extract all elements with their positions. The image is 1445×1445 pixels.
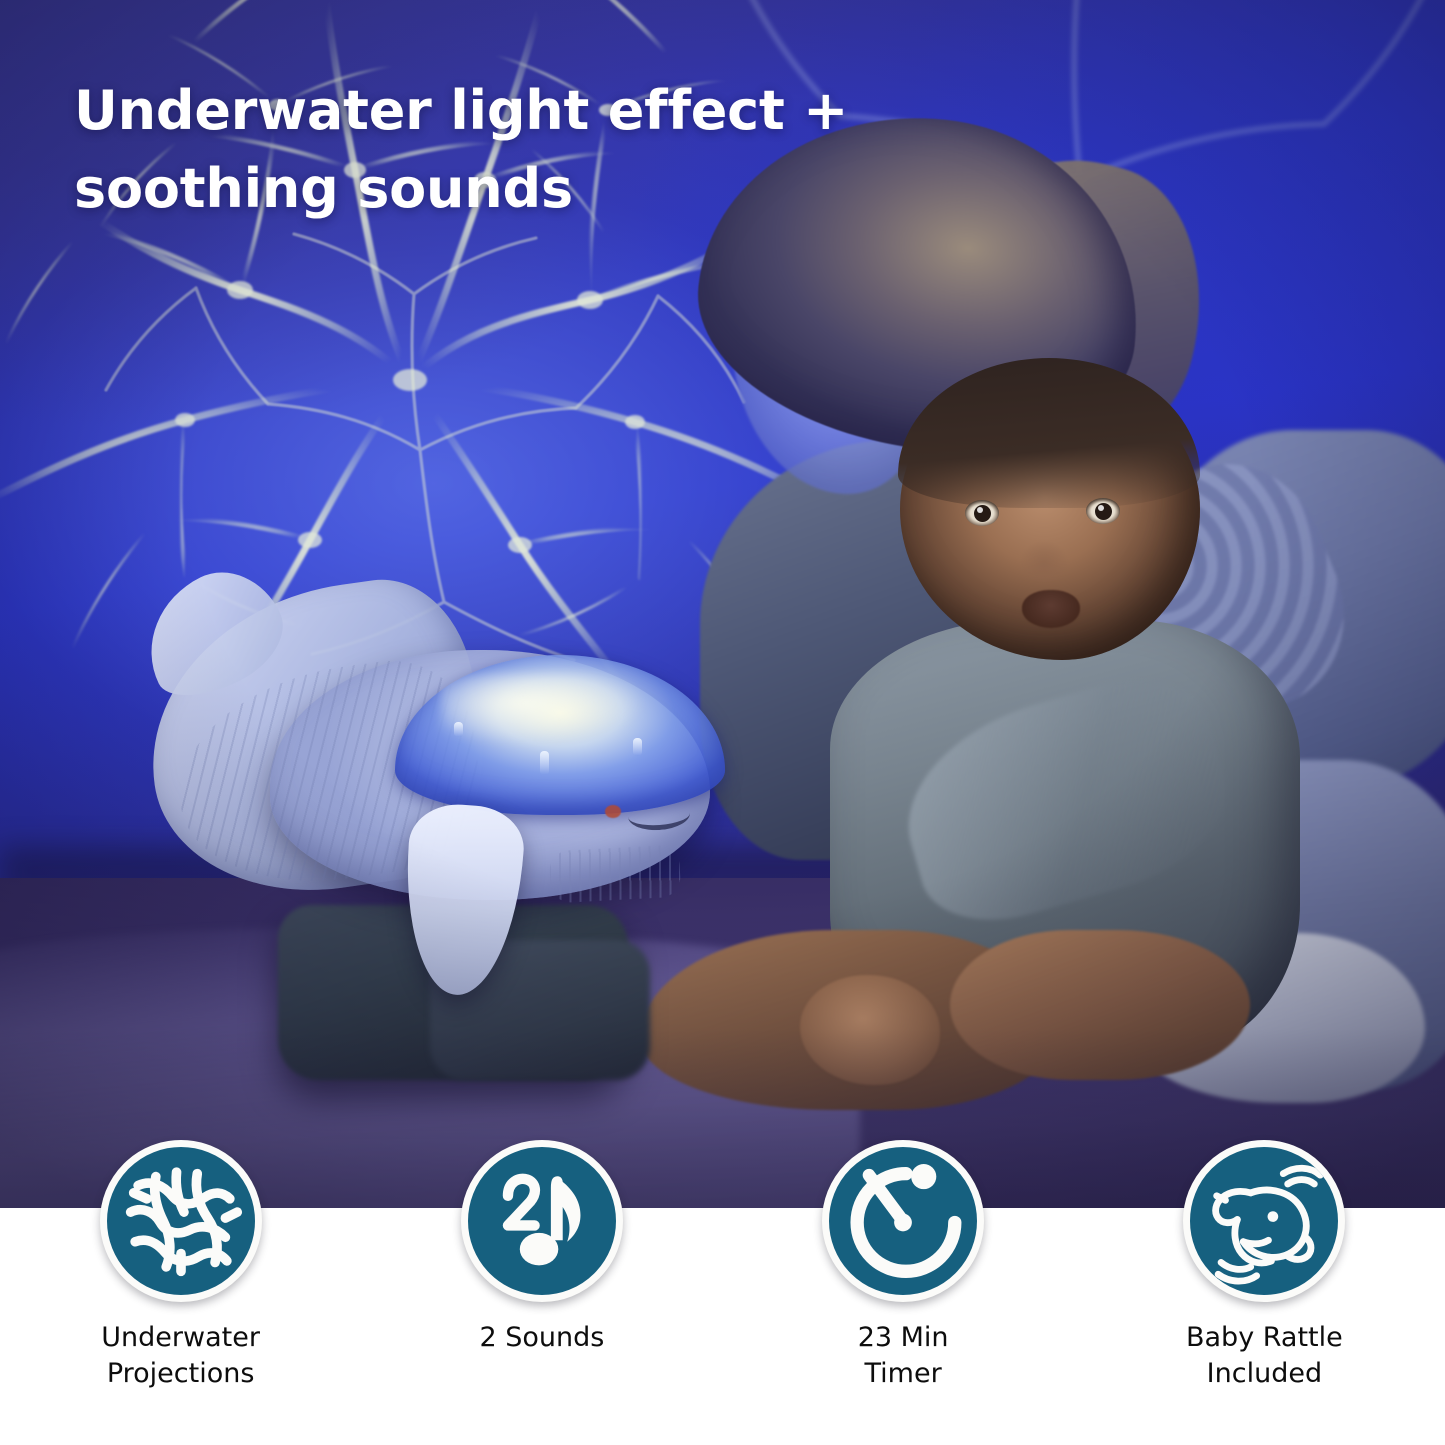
feature-label: Underwater Projections — [101, 1320, 260, 1392]
music-note-two-icon — [461, 1140, 623, 1302]
feature-label: 23 Min Timer — [858, 1320, 949, 1392]
water-caustics-icon — [100, 1140, 262, 1302]
headline-line-1: Underwater light effect + — [74, 72, 914, 150]
feature-label: Baby Rattle Included — [1186, 1320, 1343, 1392]
feature-two-sounds: 2 Sounds — [361, 1208, 722, 1445]
feature-timer: 23 Min Timer — [723, 1208, 1084, 1445]
feature-strip: Underwater Projections 2 Sounds — [0, 1208, 1445, 1445]
feature-label: 2 Sounds — [479, 1320, 604, 1356]
product-feature-image: Underwater light effect + soothing sound… — [0, 0, 1445, 1445]
feature-baby-rattle: Baby Rattle Included — [1084, 1208, 1445, 1445]
whale-rattle-icon — [1183, 1140, 1345, 1302]
stopwatch-timer-icon — [822, 1140, 984, 1302]
headline: Underwater light effect + soothing sound… — [74, 72, 914, 228]
lifestyle-photo: Underwater light effect + soothing sound… — [0, 0, 1445, 1208]
headline-line-2: soothing sounds — [74, 150, 914, 228]
feature-underwater-projections: Underwater Projections — [0, 1208, 361, 1445]
